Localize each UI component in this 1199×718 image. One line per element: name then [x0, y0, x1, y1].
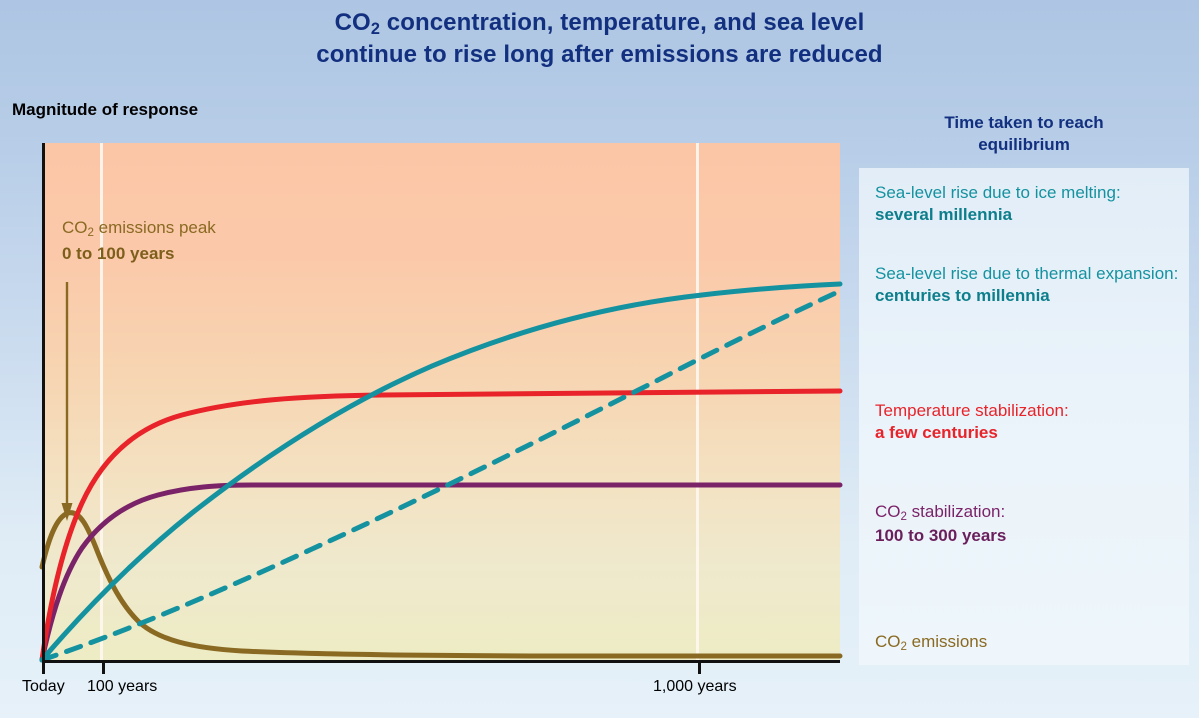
curve-temperature [42, 391, 840, 660]
emissions-peak-co2-text: CO [62, 218, 88, 237]
title-line-1-rest: concentration, temperature, and sea leve… [380, 9, 864, 36]
legend-co2-subscript: 2 [901, 511, 907, 523]
x-label-1000-years: 1,000 years [653, 678, 737, 696]
x-axis-line [42, 660, 840, 663]
page-title: CO2 concentration, temperature, and sea … [0, 8, 1199, 70]
legend-heading-line-2: equilibrium [978, 135, 1070, 154]
emissions-peak-co2-subscript: 2 [88, 227, 94, 239]
legend-item-label: Sea-level rise due to ice melting: [875, 183, 1121, 202]
legend-item-label: Temperature stabilization: [875, 401, 1069, 420]
title-co2-subscript: 2 [371, 20, 380, 38]
legend-item-co2-stabilization[interactable]: CO2 stabilization: 100 to 300 years [875, 501, 1181, 547]
legend-item-temperature-stabilization[interactable]: Temperature stabilization: a few centuri… [875, 400, 1181, 444]
emissions-peak-label: CO2 emissions peak [62, 218, 216, 237]
legend-item-sealevel-ice-melting[interactable]: Sea-level rise due to ice melting: sever… [875, 182, 1181, 226]
legend-emissions-co2-subscript: 2 [901, 641, 907, 653]
emissions-peak-label-rest: emissions peak [94, 218, 216, 237]
legend-emissions-co2-text: CO [875, 632, 901, 651]
legend-item-value: a few centuries [875, 423, 998, 442]
y-axis-caption: Magnitude of response [12, 100, 198, 120]
title-line-1: CO2 concentration, temperature, and sea … [0, 8, 1199, 40]
legend-item-label: CO2 stabilization: [875, 502, 1005, 521]
x-label-today: Today [22, 678, 65, 696]
emissions-peak-range: 0 to 100 years [62, 244, 174, 263]
legend-item-label: Sea-level rise due to thermal expansion: [875, 264, 1178, 283]
x-tick-100-years [102, 660, 105, 674]
legend-item-co2-emissions[interactable]: CO2 emissions [875, 631, 1181, 655]
emissions-peak-annotation: CO2 emissions peak 0 to 100 years [62, 216, 216, 265]
curve-co2-emissions [42, 513, 840, 656]
y-axis-line [42, 143, 45, 661]
legend-item-value: centuries to millennia [875, 286, 1050, 305]
legend-item-sealevel-thermal-expansion[interactable]: Sea-level rise due to thermal expansion:… [875, 263, 1181, 307]
x-tick-today [42, 660, 45, 674]
title-line-2: continue to rise long after emissions ar… [0, 40, 1199, 70]
legend-item-value: 100 to 300 years [875, 526, 1006, 545]
legend-item-label: CO2 emissions [875, 632, 987, 651]
legend-co2-text: CO [875, 502, 901, 521]
legend-heading-line-1: Time taken to reach [944, 113, 1103, 132]
x-label-100-years: 100 years [87, 678, 157, 696]
legend-panel: Sea-level rise due to ice melting: sever… [859, 168, 1189, 665]
emissions-peak-arrow [62, 282, 73, 521]
curve-sealevel-ice-melting [42, 291, 840, 660]
legend-item-value: several millennia [875, 205, 1012, 224]
legend-co2-label-rest: stabilization: [907, 502, 1005, 521]
curve-sealevel-thermal-expansion [42, 284, 840, 660]
legend-emissions-label-rest: emissions [907, 632, 987, 651]
x-tick-1000-years [698, 660, 701, 674]
title-co2-text: CO [335, 9, 371, 36]
legend-heading: Time taken to reach equilibrium [859, 112, 1189, 156]
